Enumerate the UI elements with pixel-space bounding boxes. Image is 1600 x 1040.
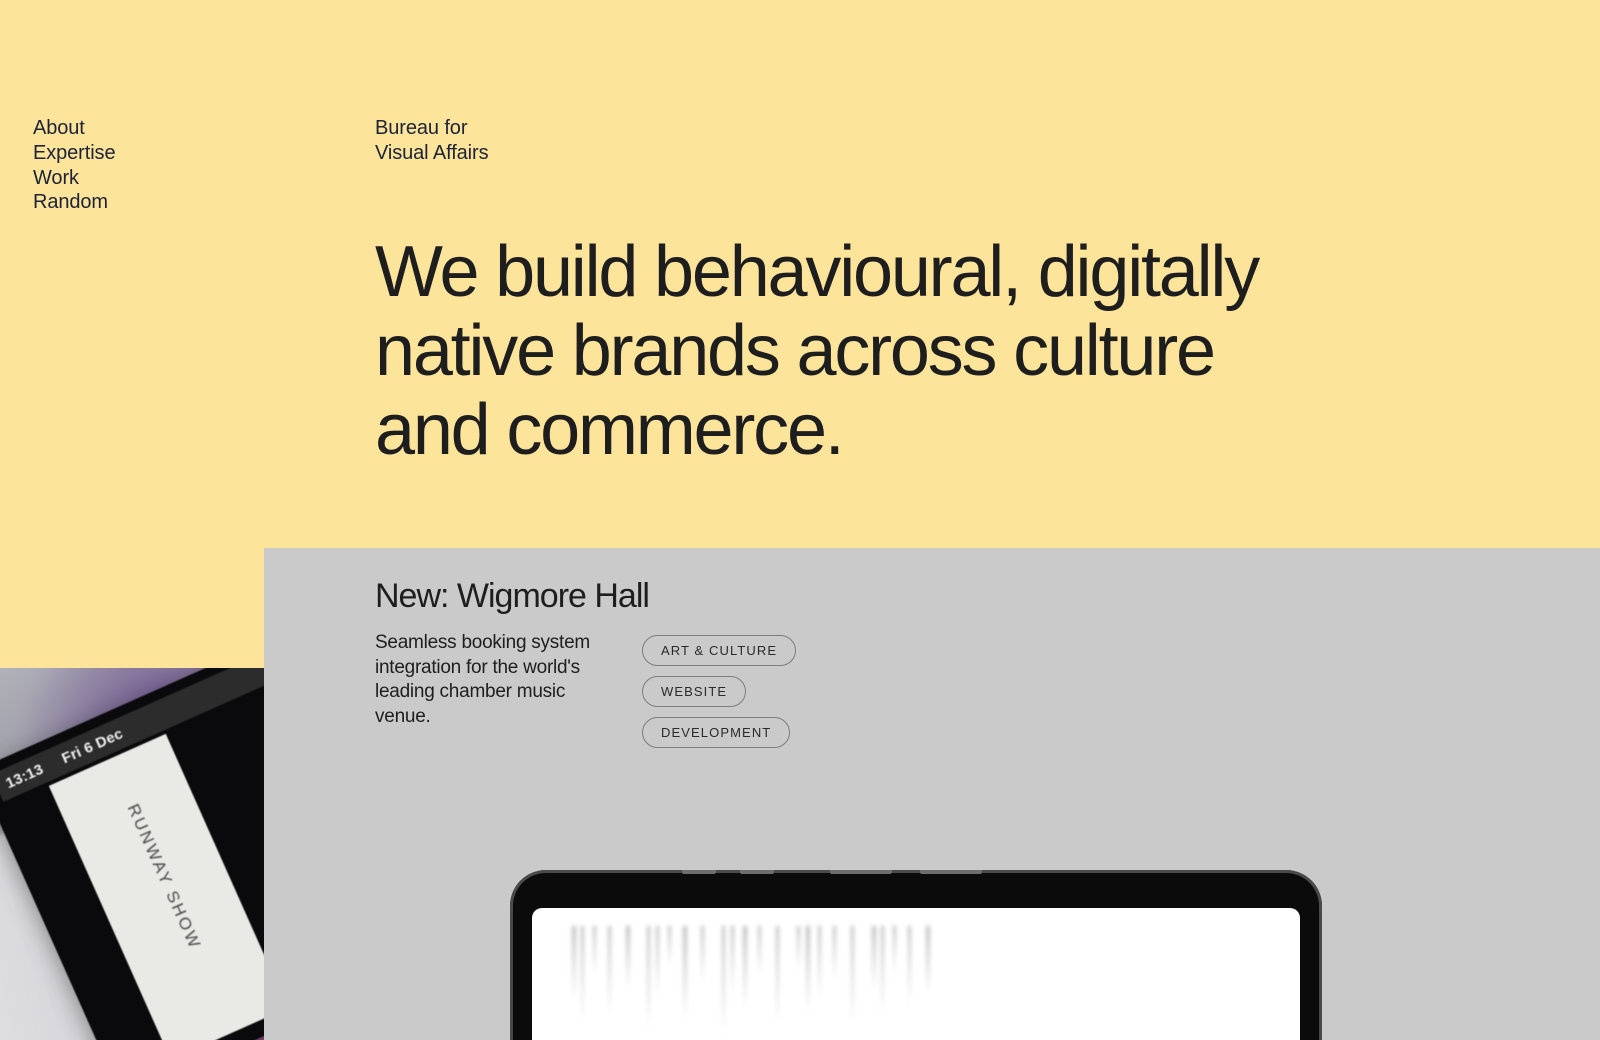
- tablet-button-icon: [740, 870, 774, 874]
- headline-line-2: native brands across culture: [375, 312, 1435, 391]
- project-card[interactable]: New: Wigmore Hall Seamless booking syste…: [375, 576, 815, 748]
- project-title: New: Wigmore Hall: [375, 576, 815, 617]
- tag-art-and-culture[interactable]: ART & CULTURE: [642, 635, 796, 666]
- blurred-screen-content: [572, 926, 1132, 1040]
- landing-page: About Expertise Work Random Bureau for V…: [0, 0, 1600, 1040]
- tablet-button-icon: [830, 870, 892, 874]
- runway-show-photo: 13:13 Fri 6 Dec RUNWAY SHOW: [0, 668, 264, 1040]
- tablet-device-mockup: [510, 870, 1322, 1040]
- phone-status-time: 13:13: [3, 760, 46, 792]
- nav-item-about[interactable]: About: [33, 116, 115, 141]
- hero-headline: We build behavioural, digitally native b…: [375, 233, 1435, 470]
- phone-card-label: RUNWAY SHOW: [106, 763, 222, 990]
- nav-item-expertise[interactable]: Expertise: [33, 141, 115, 166]
- tablet-button-icon: [682, 870, 716, 874]
- brand-line-1: Bureau for: [375, 116, 488, 141]
- headline-line-1: We build behavioural, digitally: [375, 233, 1435, 312]
- tag-development[interactable]: DEVELOPMENT: [642, 717, 790, 748]
- main-navigation: About Expertise Work Random: [33, 116, 115, 215]
- tag-website[interactable]: WEBSITE: [642, 676, 746, 707]
- nav-item-work[interactable]: Work: [33, 166, 115, 191]
- brand-wordmark[interactable]: Bureau for Visual Affairs: [375, 116, 488, 166]
- brand-line-2: Visual Affairs: [375, 141, 488, 166]
- headline-line-3: and commerce.: [375, 391, 1435, 470]
- nav-item-random[interactable]: Random: [33, 190, 115, 215]
- project-tag-list: ART & CULTURE WEBSITE DEVELOPMENT: [642, 631, 796, 748]
- featured-project-panel: New: Wigmore Hall Seamless booking syste…: [264, 548, 1600, 1040]
- project-description: Seamless booking system integration for …: [375, 631, 610, 729]
- tablet-button-icon: [920, 870, 982, 874]
- phone-content-card: RUNWAY SHOW: [49, 734, 264, 1040]
- project-card-body: Seamless booking system integration for …: [375, 631, 815, 748]
- tablet-screen: [532, 908, 1300, 1040]
